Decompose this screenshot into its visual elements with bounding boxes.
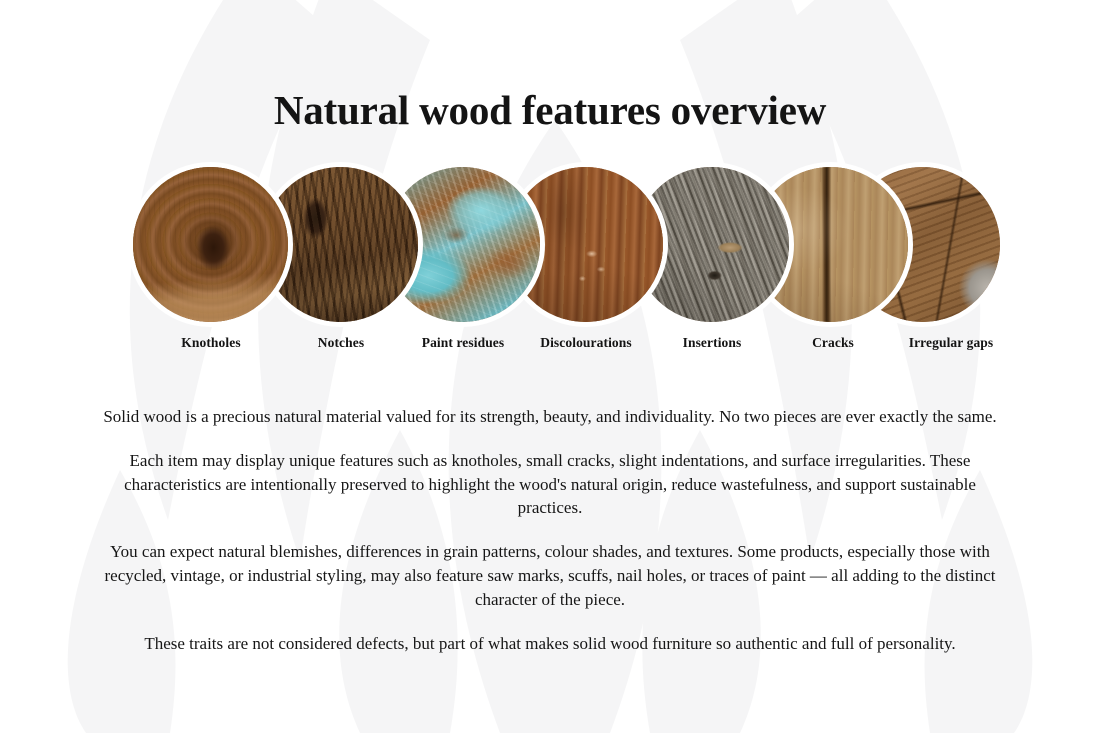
- feature-label-knotholes: Knotholes: [116, 335, 306, 351]
- feature-circle-strip: Knotholes Notches Paint residues Discolo…: [133, 167, 973, 327]
- page-title: Natural wood features overview: [0, 87, 1100, 134]
- knotholes-image: [133, 167, 288, 322]
- feature-item-knotholes[interactable]: Knotholes: [133, 167, 288, 322]
- body-paragraph-3: You can expect natural blemishes, differ…: [85, 540, 1015, 611]
- body-copy: Solid wood is a precious natural materia…: [85, 405, 1015, 655]
- wood-knothole-swatch: [133, 167, 288, 322]
- body-paragraph-2: Each item may display unique features su…: [85, 449, 1015, 520]
- wood-features-infographic: Natural wood features overview Knotholes…: [0, 0, 1100, 733]
- body-paragraph-4: These traits are not considered defects,…: [85, 632, 1015, 656]
- body-paragraph-1: Solid wood is a precious natural materia…: [85, 405, 1015, 429]
